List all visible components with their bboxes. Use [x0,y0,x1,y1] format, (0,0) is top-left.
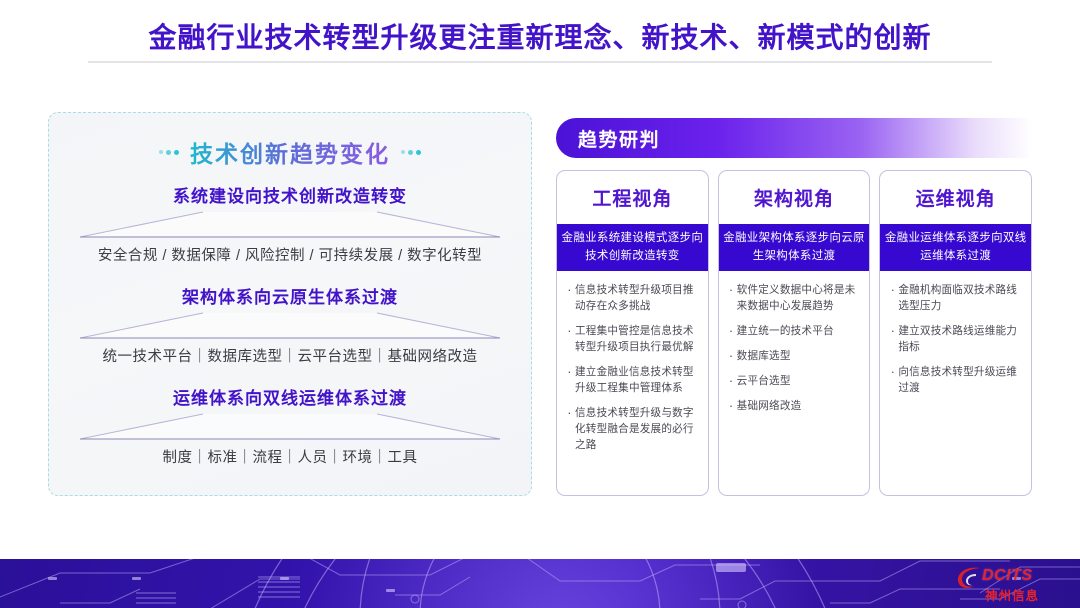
list-item: · 信息技术转型升级项目推动存在众多挑战 [564,282,699,314]
trend-group-3-items: 制度｜标准｜流程｜人员｜环境｜工具 [49,446,531,467]
trend-group-1-title: 系统建设向技术创新改造转变 [49,182,531,207]
trend-group-3: 运维体系向双线运维体系过渡 制度｜标准｜流程｜人员｜环境｜工具 [49,384,531,467]
bullet-dot-icon: · [726,348,737,364]
trend-group-2-title: 架构体系向云原生体系过渡 [49,283,531,308]
list-item: · 建立双技术路线运维能力指标 [887,323,1022,355]
dots-left-icon [159,150,179,155]
bullet-dot-icon: · [726,373,737,389]
card-bullet-list: · 信息技术转型升级项目推动存在众多挑战 · 工程集中管控是信息技术转型升级项目… [557,271,708,495]
card-bullet-list: · 软件定义数据中心将是未来数据中心发展趋势 · 建立统一的技术平台 · 数据库… [719,271,870,495]
card-title: 运维视角 [880,171,1031,224]
page-title: 金融行业技术转型升级更注重新理念、新技术、新模式的创新 [0,16,1080,56]
list-item: · 工程集中管控是信息技术转型升级项目执行最优解 [564,323,699,355]
card-architecture-perspective[interactable]: 架构视角 金融业架构体系逐步向云原生架构体系过渡 · 软件定义数据中心将是未来数… [718,170,871,496]
title-divider [88,61,992,63]
bullet-dot-icon: · [564,323,575,355]
bullet-dot-icon: · [887,282,898,314]
bullet-dot-icon: · [726,282,737,314]
funnel-shape-3-icon [73,413,507,443]
bullet-text: 金融机构面临双技术路线选型压力 [898,282,1022,314]
bullet-text: 信息技术转型升级项目推动存在众多挑战 [575,282,699,314]
card-bullet-list: · 金融机构面临双技术路线选型压力 · 建立双技术路线运维能力指标 · 向信息技… [880,271,1031,495]
bullet-dot-icon: · [726,323,737,339]
bullet-text: 建立金融业信息技术转型升级工程集中管理体系 [575,364,699,396]
bullet-text: 向信息技术转型升级运维过渡 [898,364,1022,396]
list-item: · 建立统一的技术平台 [726,323,861,339]
page-header: 金融行业技术转型升级更注重新理念、新技术、新模式的创新 [0,0,1080,66]
logo-wordmark-cn: 神州信息 [985,585,1039,604]
bullet-text: 基础网络改造 [737,398,861,414]
circuit-pattern-icon [0,559,1080,608]
bullet-text: 建立双技术路线运维能力指标 [898,323,1022,355]
bullet-dot-icon: · [564,282,575,314]
dots-right-icon [401,150,421,155]
list-item: · 软件定义数据中心将是未来数据中心发展趋势 [726,282,861,314]
list-item: · 信息技术转型升级与数字化转型融合是发展的必行之路 [564,405,699,453]
dcits-swirl-icon [956,565,982,591]
bullet-text: 数据库选型 [737,348,861,364]
card-engineering-perspective[interactable]: 工程视角 金融业系统建设模式逐步向技术创新改造转变 · 信息技术转型升级项目推动… [556,170,709,496]
card-subtitle: 金融业运维体系逐步向双线运维体系过渡 [880,224,1031,271]
list-item: · 建立金融业信息技术转型升级工程集中管理体系 [564,364,699,396]
card-title: 工程视角 [557,171,708,224]
trend-group-1: 系统建设向技术创新改造转变 安全合规 / 数据保障 / 风险控制 / 可持续发展… [49,182,531,265]
bullet-text: 工程集中管控是信息技术转型升级项目执行最优解 [575,323,699,355]
funnel-shape-1-icon [73,211,507,241]
trend-group-1-items: 安全合规 / 数据保障 / 风险控制 / 可持续发展 / 数字化转型 [49,244,531,265]
bullet-text: 信息技术转型升级与数字化转型融合是发展的必行之路 [575,405,699,453]
card-subtitle: 金融业架构体系逐步向云原生架构体系过渡 [719,224,870,271]
bullet-text: 软件定义数据中心将是未来数据中心发展趋势 [737,282,861,314]
trend-change-heading-row: 技术创新趋势变化 [49,136,531,168]
card-operations-perspective[interactable]: 运维视角 金融业运维体系逐步向双线运维体系过渡 · 金融机构面临双技术路线选型压… [879,170,1032,496]
logo-wordmark-en: DCITS [982,567,1033,585]
card-title: 架构视角 [719,171,870,224]
trend-group-3-title: 运维体系向双线运维体系过渡 [49,384,531,409]
trend-change-heading: 技术创新趋势变化 [190,135,390,169]
list-item: · 金融机构面临双技术路线选型压力 [887,282,1022,314]
bullet-dot-icon: · [726,398,737,414]
list-item: · 云平台选型 [726,373,861,389]
bullet-text: 建立统一的技术平台 [737,323,861,339]
list-item: · 数据库选型 [726,348,861,364]
bullet-text: 云平台选型 [737,373,861,389]
trend-judgement-label: 趋势研判 [578,125,660,152]
funnel-shape-2-icon [73,312,507,342]
perspective-card-list: 工程视角 金融业系统建设模式逐步向技术创新改造转变 · 信息技术转型升级项目推动… [556,170,1032,496]
bullet-dot-icon: · [564,364,575,396]
trend-group-2-items: 统一技术平台｜数据库选型｜云平台选型｜基础网络改造 [49,345,531,366]
trend-group-2: 架构体系向云原生体系过渡 统一技术平台｜数据库选型｜云平台选型｜基础网络改造 [49,283,531,366]
footer-banner: DCITS 神州信息 [0,559,1080,608]
bullet-dot-icon: · [887,364,898,396]
bullet-dot-icon: · [887,323,898,355]
trend-judgement-header: 趋势研判 [556,118,1032,158]
bullet-dot-icon: · [564,405,575,453]
card-subtitle: 金融业系统建设模式逐步向技术创新改造转变 [557,224,708,271]
trend-change-panel: 技术创新趋势变化 系统建设向技术创新改造转变 安全合规 / 数据保障 / 风险控… [48,112,532,496]
brand-logo: DCITS 神州信息 [956,565,1068,603]
list-item: · 向信息技术转型升级运维过渡 [887,364,1022,396]
list-item: · 基础网络改造 [726,398,861,414]
